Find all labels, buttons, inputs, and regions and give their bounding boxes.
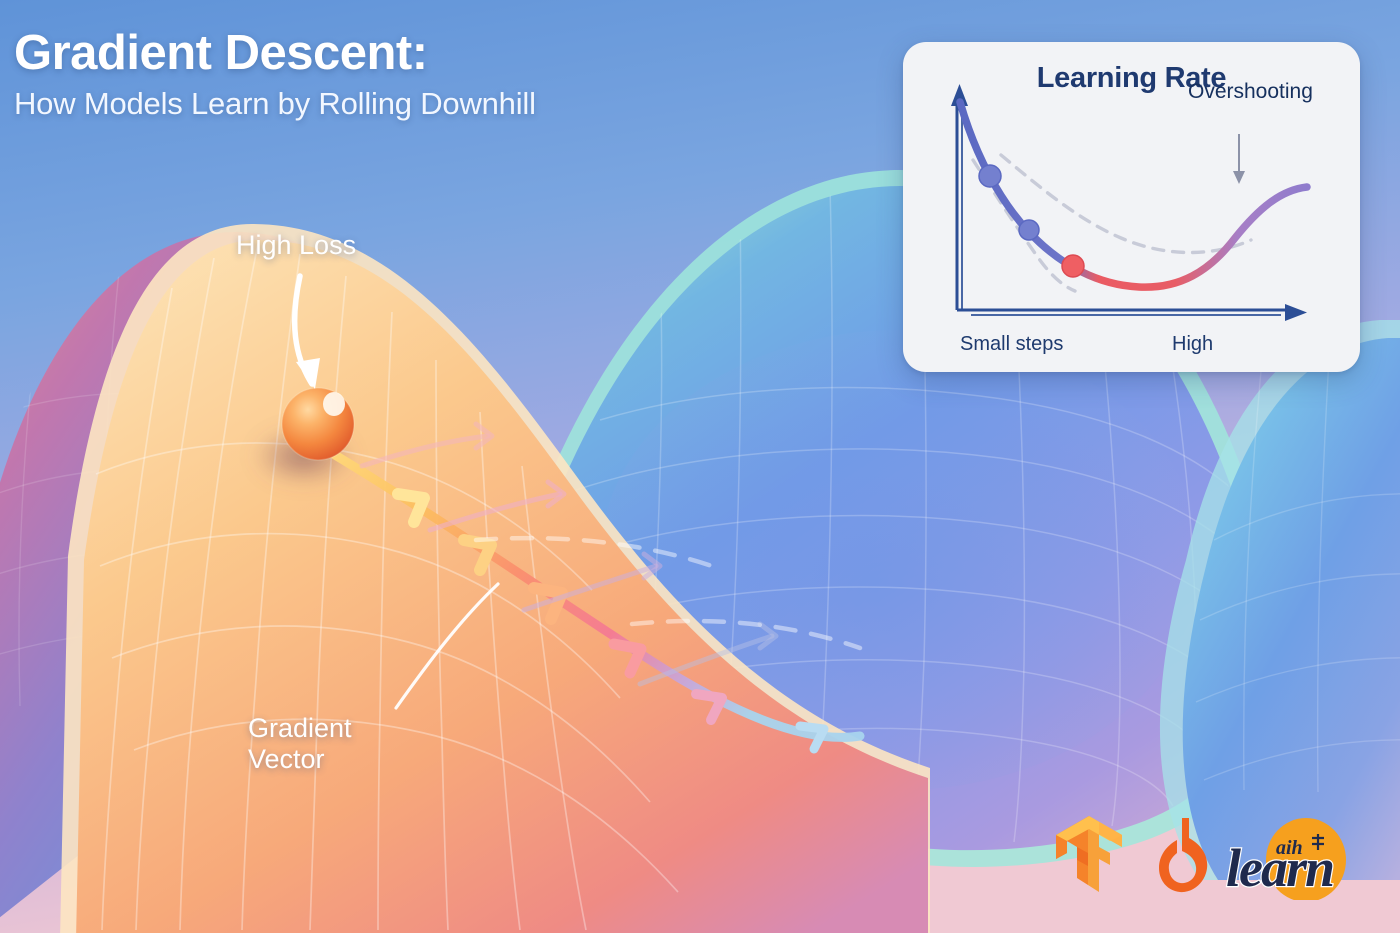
curve-marker (1019, 220, 1039, 240)
x-axis-label-left: Small steps (960, 333, 1063, 356)
pytorch-logo (1156, 812, 1214, 896)
tensorflow-logo (1052, 814, 1126, 894)
framework-logos: aih learn (1052, 808, 1352, 900)
ball-highlight (323, 392, 345, 416)
curve-marker (979, 165, 1001, 187)
overshooting-arrowhead (1233, 171, 1245, 184)
learning-rate-inset-panel: Learning Rate Overshooting Small steps H… (903, 42, 1360, 372)
overshooting-annotation: Overshooting (1188, 80, 1313, 104)
parameter-ball (282, 388, 354, 460)
loss-curve (960, 102, 1307, 287)
scikit-learn-logo: aih learn (1220, 808, 1352, 900)
curve-marker-minimum (1062, 255, 1084, 277)
x-axis-arrowhead (1285, 304, 1307, 321)
x-axis-label-right: High (1172, 333, 1213, 356)
svg-text:learn: learn (1226, 838, 1333, 898)
infographic-canvas: Gradient Descent: How Models Learn by Ro… (0, 0, 1400, 933)
